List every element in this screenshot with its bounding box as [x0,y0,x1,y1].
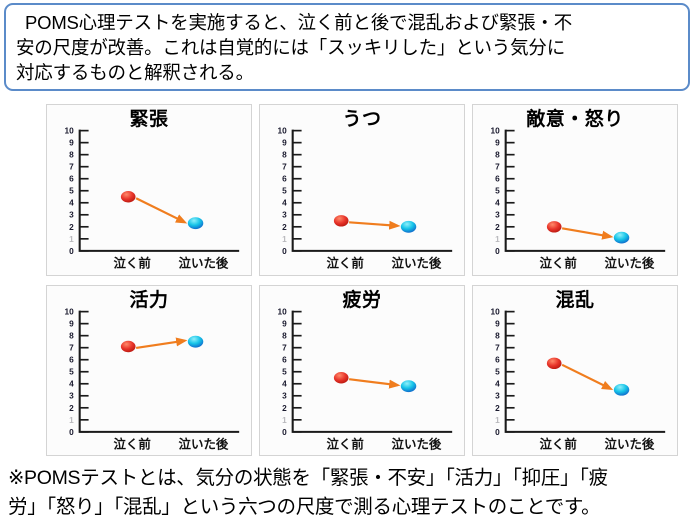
data-point-before [121,340,136,351]
y-tick-label: 10 [277,126,287,136]
data-point-before [547,221,562,232]
chart-plot-area: 109876543210泣く前泣いた後 [47,105,251,275]
chart-plot-area: 109876543210泣く前泣いた後 [473,286,677,456]
y-tick-label: 6 [282,174,287,184]
y-tick-label: 0 [69,246,74,256]
poms-chart-grid: 緊張 109876543210泣く前泣いた後 うつ 109876543210泣く… [46,104,678,456]
y-tick-label: 5 [282,186,287,196]
chart-plot-area: 109876543210泣く前泣いた後 [260,286,464,456]
summary-line-2: 安の尺度が改善。これは自覚的には「スッキリした」という気分に [16,35,680,60]
y-tick-label: 7 [69,342,74,352]
y-tick-label: 3 [495,390,500,400]
x-axis-label: 泣いた後 [392,256,442,271]
chart-plot-area: 109876543210泣く前泣いた後 [473,105,677,275]
y-tick-label: 8 [282,150,287,160]
y-tick-label: 6 [495,354,500,364]
y-tick-label: 4 [69,198,74,208]
poms-definition-note: ※POMSテストとは、気分の状態を「緊張・不安」「活力」「抑圧」「疲 労」「怒り… [8,464,698,522]
y-tick-label: 4 [69,378,74,388]
y-tick-label: 8 [69,330,74,340]
chart-panel-confusion: 混乱 109876543210泣く前泣いた後 [472,285,678,457]
y-tick-label: 7 [282,342,287,352]
y-tick-label: 0 [495,246,500,256]
chart-plot-area: 109876543210泣く前泣いた後 [260,105,464,275]
x-axis-label: 泣く前 [539,436,577,451]
data-point-after [401,221,416,233]
y-tick-label: 0 [495,426,500,436]
y-tick-label: 7 [495,162,500,172]
y-tick-label: 7 [69,162,74,172]
x-axis-label: 泣いた後 [392,436,442,451]
y-tick-label: 0 [69,426,74,436]
y-tick-label: 4 [495,378,500,388]
y-tick-label: 10 [64,126,74,136]
note-line-2: 労」「怒り」「混乱」という六つの尺度で測る心理テストのことです。 [8,493,698,522]
y-tick-label: 9 [495,138,500,148]
x-axis-label: 泣く前 [326,436,364,451]
y-tick-label: 6 [69,354,74,364]
y-tick-label: 3 [69,390,74,400]
x-axis-label: 泣く前 [326,256,364,271]
data-point-after [614,232,629,244]
y-tick-label: 2 [69,402,74,412]
y-tick-label: 7 [282,162,287,172]
x-axis-label: 泣いた後 [179,436,229,451]
y-tick-label: 5 [69,366,74,376]
data-point-after [188,335,203,347]
chart-panel-depression: うつ 109876543210泣く前泣いた後 [259,104,465,276]
chart-panel-vigor: 活力 109876543210泣く前泣いた後 [46,285,252,457]
y-tick-label: 5 [495,366,500,376]
y-tick-label: 5 [69,186,74,196]
data-point-before [547,357,562,368]
y-tick-label: 9 [495,318,500,328]
y-tick-label: 2 [495,222,500,232]
y-tick-label: 3 [495,210,500,220]
y-tick-label: 8 [69,150,74,160]
y-tick-label: 7 [495,342,500,352]
x-axis-label: 泣く前 [539,256,577,271]
y-tick-label: 0 [282,246,287,256]
y-tick-label: 1 [69,234,74,244]
y-tick-label: 2 [282,402,287,412]
y-tick-label: 1 [495,234,500,244]
x-axis-label: 泣く前 [113,436,151,451]
data-point-after [188,217,203,229]
data-point-after [401,380,416,392]
y-tick-label: 5 [495,186,500,196]
note-line-1: ※POMSテストとは、気分の状態を「緊張・不安」「活力」「抑圧」「疲 [8,464,698,493]
data-point-before [334,372,349,383]
y-tick-label: 8 [495,330,500,340]
y-tick-label: 9 [282,318,287,328]
data-point-after [614,383,629,395]
y-tick-label: 8 [495,150,500,160]
summary-line-1: POMS心理テストを実施すると、泣く前と後で混乱および緊張・不 [16,10,680,35]
x-axis-label: 泣いた後 [605,256,655,271]
y-tick-label: 8 [282,330,287,340]
y-tick-label: 1 [69,414,74,424]
y-tick-label: 1 [495,414,500,424]
y-tick-label: 9 [69,138,74,148]
y-tick-label: 9 [282,138,287,148]
y-tick-label: 10 [490,306,500,316]
y-tick-label: 6 [282,354,287,364]
y-tick-label: 6 [495,174,500,184]
y-tick-label: 3 [282,390,287,400]
y-tick-label: 1 [282,414,287,424]
y-tick-label: 10 [490,126,500,136]
y-tick-label: 2 [495,402,500,412]
chart-panel-tension: 緊張 109876543210泣く前泣いた後 [46,104,252,276]
data-point-before [334,215,349,226]
y-tick-label: 4 [282,378,287,388]
data-point-before [121,191,136,202]
y-tick-label: 5 [282,366,287,376]
y-tick-label: 10 [64,306,74,316]
x-axis-label: 泣いた後 [179,256,229,271]
chart-panel-hostility-anger: 敵意・怒り 109876543210泣く前泣いた後 [472,104,678,276]
y-tick-label: 9 [69,318,74,328]
y-tick-label: 3 [69,210,74,220]
summary-line-3: 対応するものと解釈される。 [16,60,680,85]
y-tick-label: 10 [277,306,287,316]
x-axis-label: 泣いた後 [605,436,655,451]
chart-plot-area: 109876543210泣く前泣いた後 [47,286,251,456]
y-tick-label: 0 [282,426,287,436]
y-tick-label: 2 [282,222,287,232]
y-tick-label: 2 [69,222,74,232]
y-tick-label: 4 [282,198,287,208]
summary-callout: POMS心理テストを実施すると、泣く前と後で混乱および緊張・不 安の尺度が改善。… [4,3,690,91]
y-tick-label: 1 [282,234,287,244]
y-tick-label: 4 [495,198,500,208]
chart-panel-fatigue: 疲労 109876543210泣く前泣いた後 [259,285,465,457]
x-axis-label: 泣く前 [113,256,151,271]
y-tick-label: 6 [69,174,74,184]
y-tick-label: 3 [282,210,287,220]
